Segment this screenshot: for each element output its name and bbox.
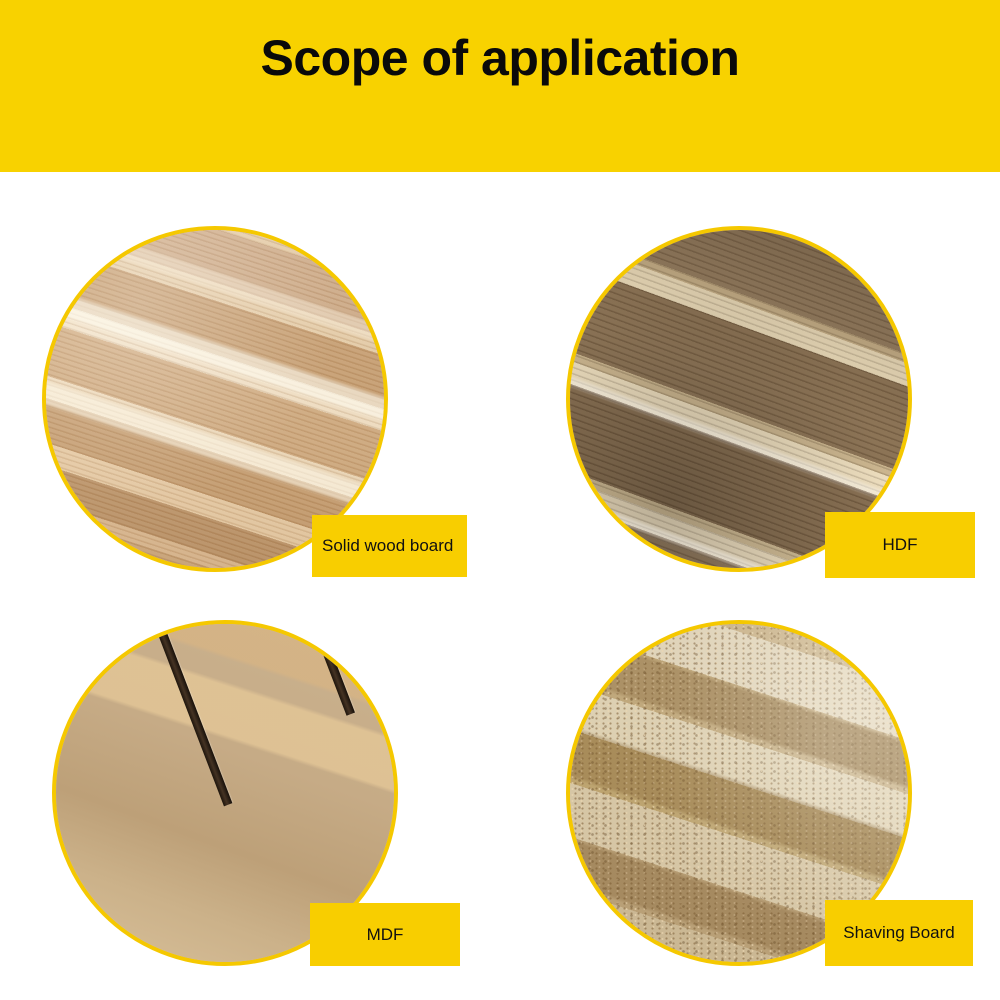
caption-tag-shaving-board: Shaving Board — [825, 900, 973, 966]
caption-tag-solid-wood-board: Solid wood board — [312, 515, 467, 577]
mdf-saw-groove-left — [152, 620, 232, 806]
material-card-mdf: MDF — [0, 586, 500, 1000]
material-card-shaving-board: Shaving Board — [500, 586, 1000, 1000]
mdf-saw-groove-right — [304, 620, 355, 716]
caption-tag-mdf: MDF — [310, 903, 460, 966]
caption-label: Solid wood board — [322, 536, 453, 556]
bottom-white-strip — [0, 970, 1000, 1000]
caption-label: MDF — [367, 925, 404, 945]
material-card-solid-wood-board: Solid wood board — [0, 172, 500, 586]
product-feature-page: Scope of application Solid wood board HD… — [0, 0, 1000, 1000]
material-card-grid: Solid wood board HDF MDF — [0, 172, 1000, 1000]
caption-label: Shaving Board — [843, 923, 955, 943]
caption-label: HDF — [883, 535, 918, 555]
material-card-hdf: HDF — [500, 172, 1000, 586]
caption-tag-hdf: HDF — [825, 512, 975, 578]
header-banner: Scope of application — [0, 0, 1000, 172]
page-title: Scope of application — [0, 0, 1000, 172]
